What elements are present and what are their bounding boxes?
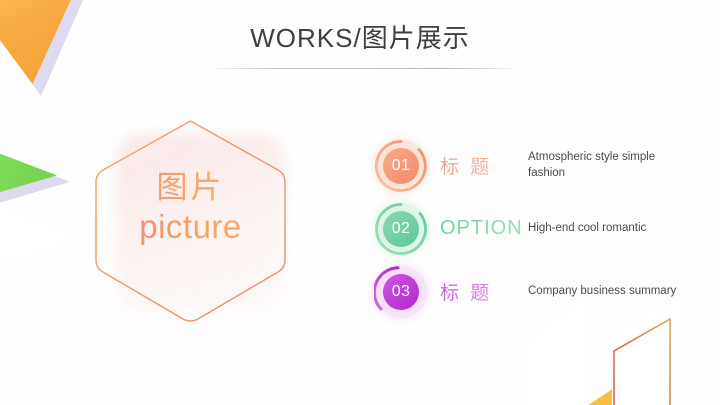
decor-mid-left-triangle-fill bbox=[0, 129, 57, 209]
decor-mid-left-triangle-edge bbox=[0, 132, 70, 218]
slide-canvas: WORKS/图片展示 图片 picture bbox=[0, 0, 720, 405]
decor-bottom-right-outline-chevron bbox=[612, 317, 712, 405]
number-badge-03: 03 bbox=[374, 265, 428, 319]
number-badge-02: 02 bbox=[374, 202, 428, 256]
picture-placeholder-cn-label: 图片 bbox=[88, 170, 293, 207]
list-item[interactable]: 01 标 题 Atmospheric style simple fashion bbox=[374, 134, 684, 197]
list-item[interactable]: 03 标 题 Company business summary bbox=[374, 260, 684, 323]
slide-header: WORKS/图片展示 bbox=[0, 24, 720, 53]
picture-placeholder-en-label: picture bbox=[88, 208, 293, 247]
item-desc-03: Company business summary bbox=[528, 284, 684, 300]
item-desc-01: Atmospheric style simple fashion bbox=[528, 150, 684, 181]
feature-list: 01 标 题 Atmospheric style simple fashion bbox=[374, 134, 684, 323]
list-item[interactable]: 02 OPTION High-end cool romantic bbox=[374, 197, 684, 260]
number-badge-01: 01 bbox=[374, 139, 428, 193]
picture-placeholder-text: 图片 picture bbox=[88, 170, 293, 247]
page-title: WORKS/图片展示 bbox=[0, 24, 720, 53]
decor-mid-left-triangle bbox=[0, 132, 70, 218]
badge-number-03: 03 bbox=[383, 274, 419, 310]
item-title-02: OPTION bbox=[440, 217, 526, 240]
picture-placeholder[interactable]: 图片 picture bbox=[88, 116, 293, 326]
badge-number-01: 01 bbox=[383, 148, 419, 184]
item-desc-02: High-end cool romantic bbox=[528, 221, 684, 237]
badge-number-02: 02 bbox=[383, 211, 419, 247]
title-divider bbox=[215, 68, 515, 69]
item-title-01: 标 题 bbox=[440, 152, 526, 179]
decor-left-white-triangle bbox=[0, 182, 73, 274]
decor-bottom-right-yellow-triangle bbox=[558, 347, 650, 405]
item-title-03: 标 题 bbox=[440, 278, 526, 305]
